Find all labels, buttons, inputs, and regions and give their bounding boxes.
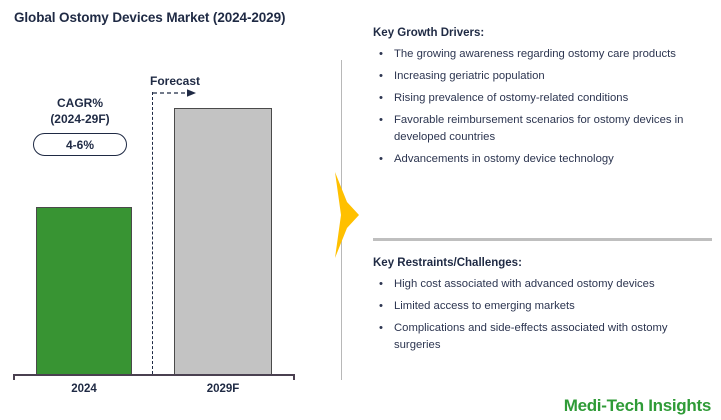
- bar-2029f: [174, 108, 272, 375]
- list-item-text: Rising prevalence of ostomy-related cond…: [394, 92, 628, 104]
- list-item: • The growing awareness regarding ostomy…: [373, 46, 713, 63]
- brand-logo: Medi-Tech Insights: [564, 396, 711, 416]
- x-axis-tick-left: [13, 374, 15, 380]
- bullet-icon: •: [379, 90, 383, 107]
- chart-panel: Global Ostomy Devices Market (2024-2029)…: [0, 0, 341, 420]
- cagr-value-pill: 4-6%: [33, 133, 127, 156]
- list-item: • High cost associated with advanced ost…: [373, 276, 713, 293]
- list-item-text: Advancements in ostomy device technology: [394, 153, 614, 165]
- bullet-icon: •: [379, 151, 383, 168]
- bullet-icon: •: [379, 68, 383, 85]
- list-item: • Favorable reimbursement scenarios for …: [373, 112, 713, 145]
- list-item: • Complications and side-effects associa…: [373, 320, 713, 353]
- flow-arrow-icon: [333, 172, 359, 258]
- growth-drivers-heading: Key Growth Drivers:: [373, 27, 484, 39]
- x-axis-label-2024: 2024: [36, 383, 132, 395]
- list-item: • Advancements in ostomy device technolo…: [373, 151, 713, 168]
- forecast-divider-line: [152, 92, 153, 374]
- cagr-label-line1: CAGR%: [22, 95, 138, 111]
- page-title: Global Ostomy Devices Market (2024-2029): [14, 10, 334, 25]
- list-item-text: High cost associated with advanced ostom…: [394, 278, 655, 290]
- cagr-callout: CAGR% (2024-29F) 4-6%: [22, 95, 138, 156]
- bullet-icon: •: [379, 276, 383, 293]
- list-item-text: Favorable reimbursement scenarios for os…: [394, 114, 683, 143]
- list-item-text: The growing awareness regarding ostomy c…: [394, 48, 676, 60]
- list-item: • Increasing geriatric population: [373, 68, 713, 85]
- bullet-icon: •: [379, 298, 383, 315]
- list-item-text: Complications and side-effects associate…: [394, 322, 668, 351]
- bullet-icon: •: [379, 320, 383, 337]
- restraints-list: • High cost associated with advanced ost…: [373, 276, 713, 359]
- list-item-text: Increasing geriatric population: [394, 70, 545, 82]
- list-item: • Limited access to emerging markets: [373, 298, 713, 315]
- x-axis-label-2029f: 2029F: [174, 383, 272, 395]
- list-item-text: Limited access to emerging markets: [394, 300, 575, 312]
- x-axis-line: [13, 374, 295, 376]
- forecast-arrow-icon: [152, 88, 202, 98]
- cagr-label-line2: (2024-29F): [22, 111, 138, 127]
- list-item: • Rising prevalence of ostomy-related co…: [373, 90, 713, 107]
- restraints-heading: Key Restraints/Challenges:: [373, 257, 522, 269]
- panel-separator: [373, 238, 712, 241]
- bullet-icon: •: [379, 46, 383, 63]
- insights-panel: Key Growth Drivers: • The growing awaren…: [360, 0, 721, 420]
- x-axis-tick-right: [293, 374, 295, 380]
- growth-drivers-list: • The growing awareness regarding ostomy…: [373, 46, 713, 173]
- forecast-label: Forecast: [150, 74, 200, 88]
- cagr-value: 4-6%: [66, 138, 94, 152]
- bar-2024: [36, 207, 132, 375]
- bullet-icon: •: [379, 112, 383, 129]
